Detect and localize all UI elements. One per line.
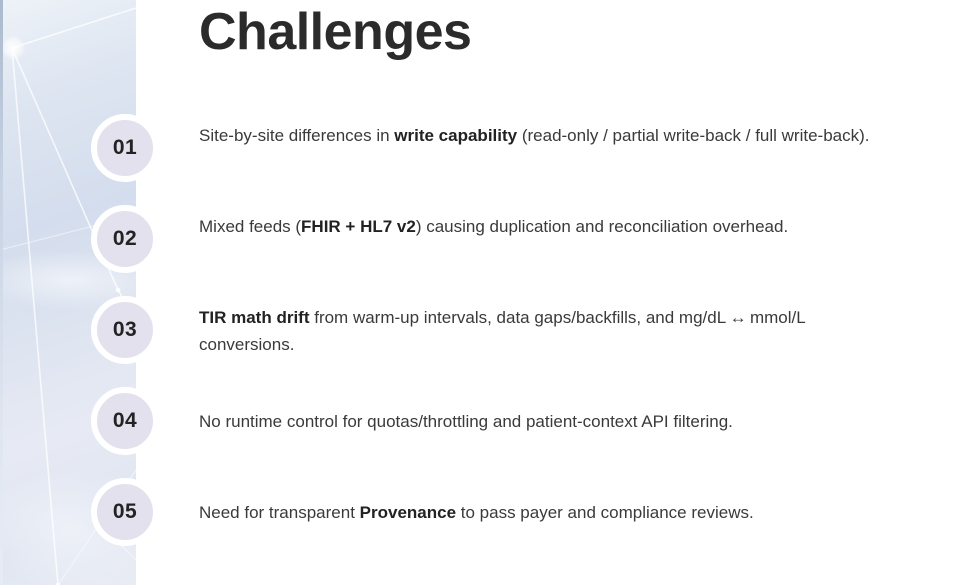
item-number-badge: 05 xyxy=(91,478,159,546)
item-text: Site-by-site differences in write capabi… xyxy=(199,122,875,149)
item-number-badge: 01 xyxy=(91,114,159,182)
item-text: Mixed feeds (FHIR + HL7 v2) causing dupl… xyxy=(199,213,875,240)
item-number-badge: 03 xyxy=(91,296,159,364)
item-text: Need for transparent Provenance to pass … xyxy=(199,499,875,526)
challenges-list: 01 Site-by-site differences in write cap… xyxy=(0,0,966,585)
slide-canvas: Challenges 01 Site-by-site differences i… xyxy=(0,0,966,585)
item-text: TIR math drift from warm-up intervals, d… xyxy=(199,304,875,358)
item-number-badge: 04 xyxy=(91,387,159,455)
item-number-badge: 02 xyxy=(91,205,159,273)
item-text: No runtime control for quotas/throttling… xyxy=(199,408,875,435)
